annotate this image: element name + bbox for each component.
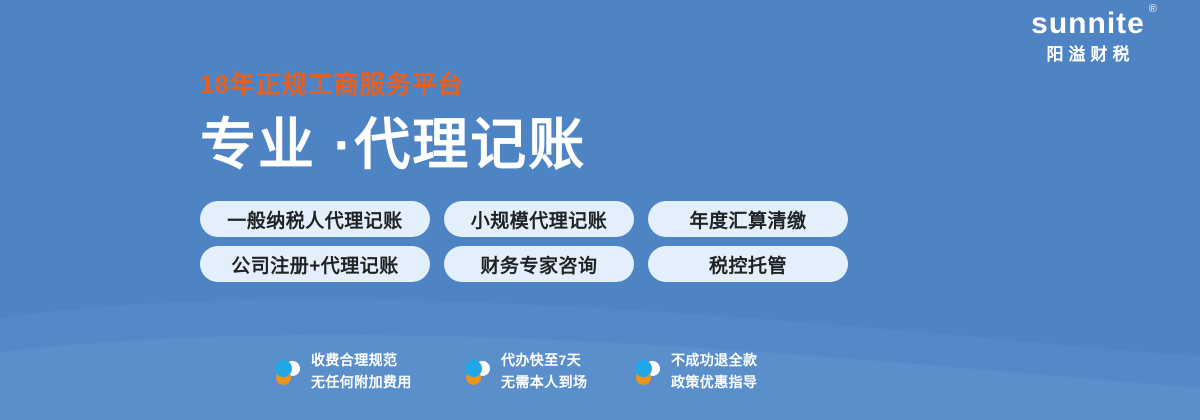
circle-cyan-shape [635, 360, 652, 377]
feature-line-1: 不成功退全款 [671, 350, 757, 372]
logo-wordmark: sunnite® [1031, 8, 1145, 40]
promo-banner: sunnite® 阳溢财税 18年正规工商服务平台 专业 ·代理记账 一般纳税人… [0, 0, 1200, 420]
registered-trademark-icon: ® [1149, 4, 1158, 15]
feature-item-guarantee: 不成功退全款 政策优惠指导 [632, 350, 802, 393]
brand-logo[interactable]: sunnite® 阳溢财税 [998, 8, 1178, 64]
logo-chinese-name: 阳溢财税 [998, 46, 1178, 65]
feature-item-pricing: 收费合理规范 无任何附加费用 [272, 350, 462, 393]
service-pill-general-taxpayer-bookkeeping[interactable]: 一般纳税人代理记账 [200, 201, 430, 237]
feature-item-speed: 代办快至7天 无需本人到场 [462, 350, 632, 393]
service-pill-annual-tax-settlement[interactable]: 年度汇算清缴 [648, 201, 848, 237]
feature-line-1: 代办快至7天 [501, 350, 587, 372]
hero-headline: 专业 ·代理记账 [200, 114, 586, 177]
circle-cyan-shape [275, 360, 292, 377]
logo-wordmark-text: sunnite [1031, 7, 1145, 40]
service-pill-company-registration-bookkeeping[interactable]: 公司注册+代理记账 [200, 246, 430, 282]
two-tone-circle-icon [462, 357, 492, 387]
service-pill-grid: 一般纳税人代理记账 小规模代理记账 年度汇算清缴 公司注册+代理记账 财务专家咨… [200, 201, 848, 282]
feature-line-2: 无任何附加费用 [311, 372, 412, 394]
circle-cyan-shape [465, 360, 482, 377]
feature-item-text: 不成功退全款 政策优惠指导 [671, 350, 757, 393]
service-pill-small-scale-bookkeeping[interactable]: 小规模代理记账 [444, 201, 634, 237]
two-tone-circle-icon [272, 357, 302, 387]
service-pill-row: 公司注册+代理记账 财务专家咨询 税控托管 [200, 246, 848, 282]
service-pill-tax-control-hosting[interactable]: 税控托管 [648, 246, 848, 282]
service-pill-row: 一般纳税人代理记账 小规模代理记账 年度汇算清缴 [200, 201, 848, 237]
hero-tagline: 18年正规工商服务平台 [200, 72, 586, 100]
feature-item-text: 收费合理规范 无任何附加费用 [311, 350, 412, 393]
feature-list: 收费合理规范 无任何附加费用 代办快至7天 无需本人到场 不成功退全款 [272, 350, 802, 393]
feature-line-1: 收费合理规范 [311, 350, 412, 372]
two-tone-circle-icon [632, 357, 662, 387]
service-pill-finance-expert-consulting[interactable]: 财务专家咨询 [444, 246, 634, 282]
hero-text-block: 18年正规工商服务平台 专业 ·代理记账 [200, 72, 586, 176]
feature-line-2: 无需本人到场 [501, 372, 587, 394]
feature-item-text: 代办快至7天 无需本人到场 [501, 350, 587, 393]
feature-line-2: 政策优惠指导 [671, 372, 757, 394]
